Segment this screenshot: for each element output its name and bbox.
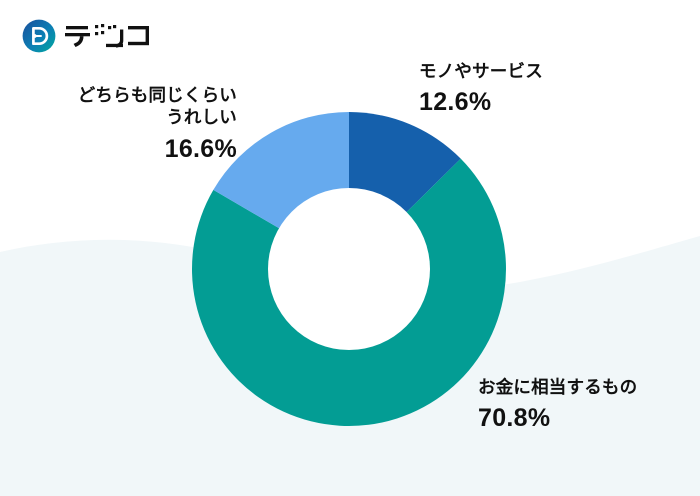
infographic-canvas: モノやサービス 12.6% どちらも同じくらい うれしい 16.6% お金に相当… (0, 0, 700, 496)
digico-wordmark (65, 23, 151, 49)
callout-money-percent: 70.8% (478, 402, 637, 434)
callout-equally-happy: どちらも同じくらい うれしい 16.6% (78, 84, 237, 165)
brand-logo (22, 19, 151, 53)
callout-money-equivalent: お金に相当するもの 70.8% (478, 376, 637, 434)
callout-goods-percent: 12.6% (419, 86, 543, 118)
callout-equally-happy-category: どちらも同じくらい うれしい (78, 84, 237, 129)
callout-equally-happy-percent: 16.6% (78, 133, 237, 165)
digico-circle-logo-icon (22, 19, 56, 53)
callout-money-category: お金に相当するもの (478, 376, 637, 398)
callout-goods-and-services: モノやサービス 12.6% (419, 60, 543, 118)
donut-center-hole (268, 188, 430, 350)
callout-goods-category: モノやサービス (419, 60, 543, 82)
